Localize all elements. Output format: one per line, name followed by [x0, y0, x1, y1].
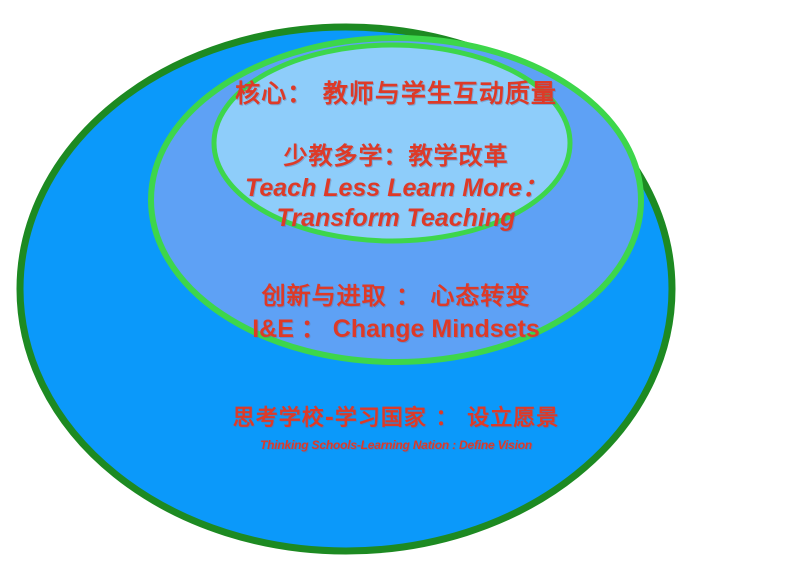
inner-ellipse-core-teach-less-learn-more [214, 45, 570, 241]
concentric-ellipses-graphic [0, 0, 792, 573]
diagram-canvas: 核心： 教师与学生互动质量 少教多学：教学改革 Teach Less Learn… [0, 0, 792, 573]
